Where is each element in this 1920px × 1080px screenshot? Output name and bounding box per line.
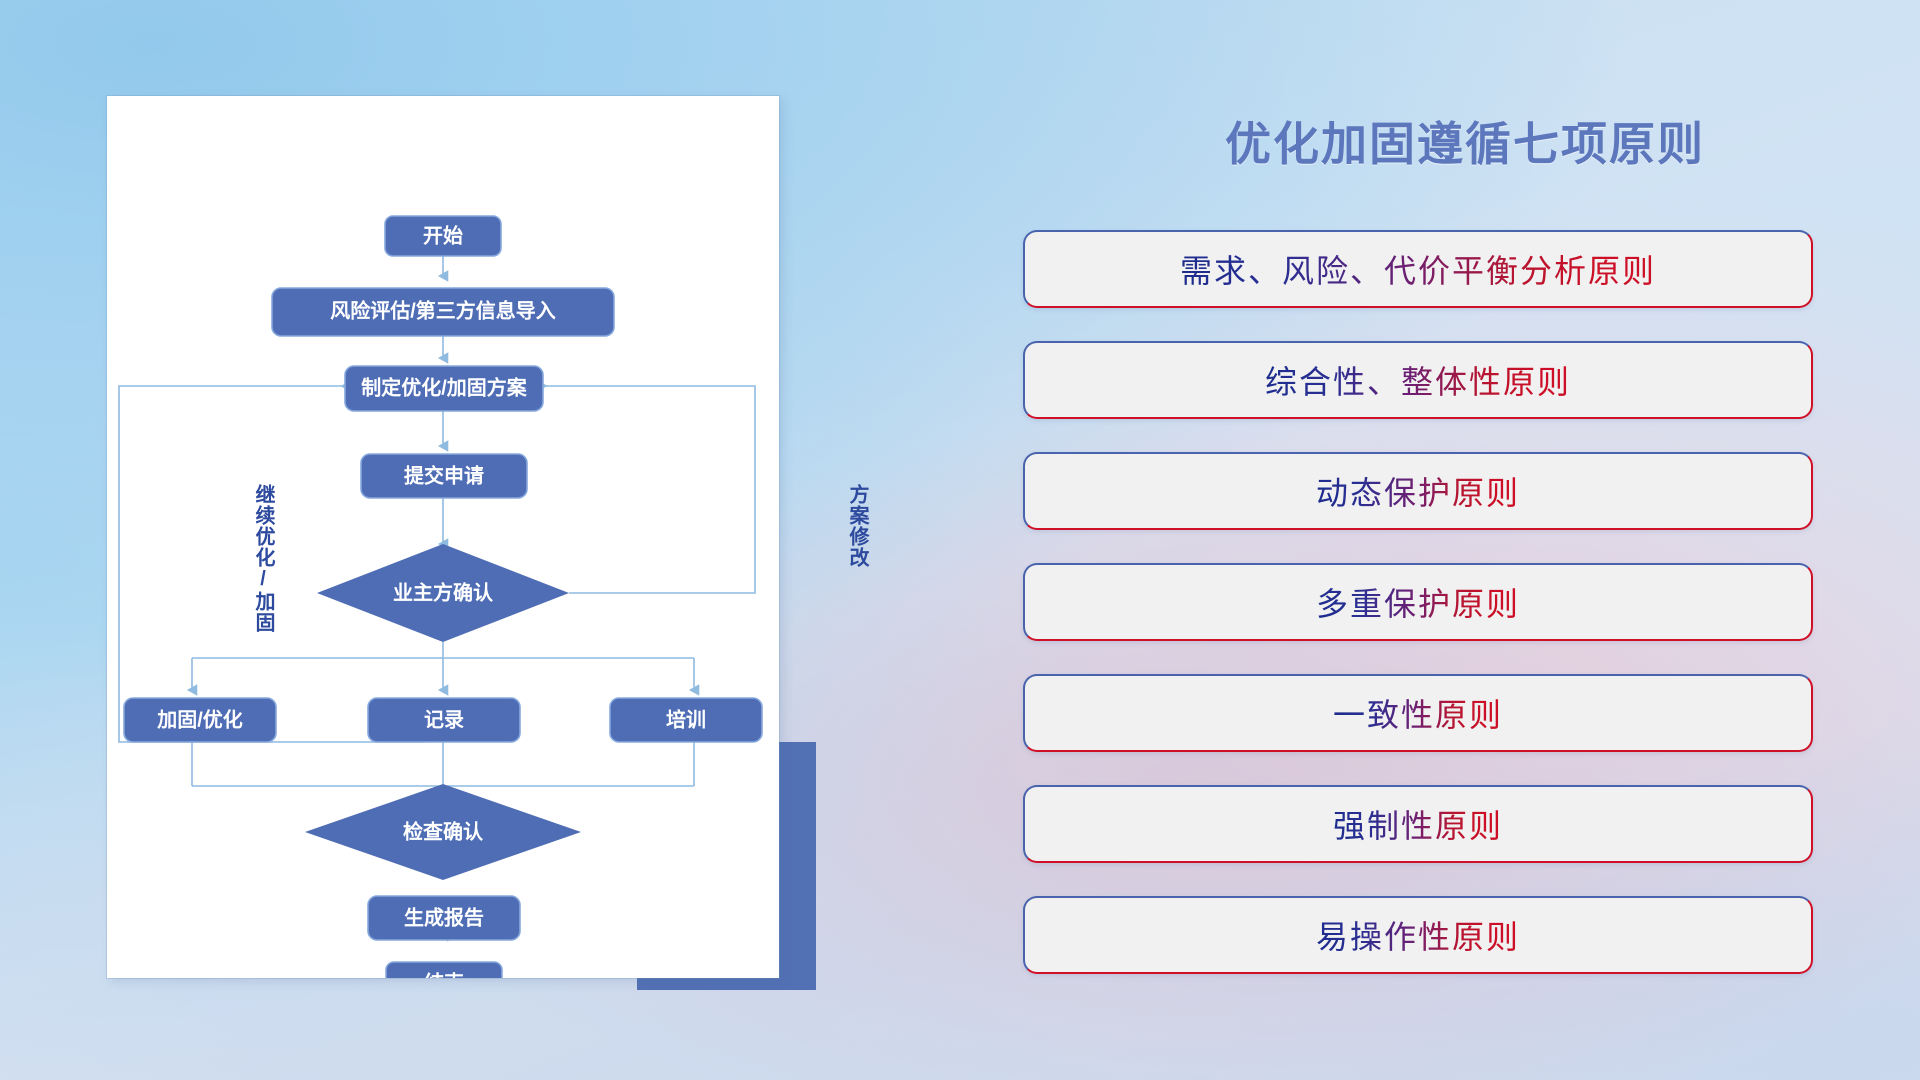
flow-node-owner-confirm[interactable]: 业主方确认 <box>317 544 569 642</box>
flow-node-label: 制定优化/加固方案 <box>361 375 528 399</box>
principle-card-label: 多重保护原则 <box>1316 579 1520 625</box>
flow-node-plan[interactable]: 制定优化/加固方案 <box>345 366 543 411</box>
flow-node-label: 记录 <box>424 708 464 731</box>
principle-card-list: 需求、风险、代价平衡分析原则 综合性、整体性原则 动态保护原则 多重保护原则 一… <box>1023 230 1813 1007</box>
principle-card-label: 强制性原则 <box>1333 801 1503 847</box>
right-panel: 优化加固遵循七项原则 需求、风险、代价平衡分析原则 综合性、整体性原则 动态保护… <box>1010 0 1920 1080</box>
flow-node-label: 培训 <box>666 707 706 731</box>
flowchart-svg: 开始 风险评估/第三方信息导入 制定优化/加固方案 提交申请 业主方确认 加固/… <box>107 96 779 978</box>
flow-node-label: 开始 <box>423 223 463 247</box>
flow-side-label-left: 继续优化/加固 <box>253 484 273 633</box>
page-title: 优化加固遵循七项原则 <box>1010 108 1920 174</box>
principle-card[interactable]: 综合性、整体性原则 <box>1023 341 1813 419</box>
flow-node-label: 提交申请 <box>404 463 484 487</box>
flow-node-training[interactable]: 培训 <box>610 698 762 742</box>
flow-node-check-confirm[interactable]: 检查确认 <box>305 784 581 880</box>
principle-card[interactable]: 易操作性原则 <box>1023 896 1813 974</box>
flow-node-record[interactable]: 记录 <box>368 698 520 742</box>
flowchart-panel: 开始 风险评估/第三方信息导入 制定优化/加固方案 提交申请 业主方确认 加固/… <box>107 96 779 978</box>
flow-node-report[interactable]: 生成报告 <box>368 896 520 940</box>
principle-card[interactable]: 强制性原则 <box>1023 785 1813 863</box>
principle-card[interactable]: 需求、风险、代价平衡分析原则 <box>1023 230 1813 308</box>
flow-node-label: 生成报告 <box>404 905 484 929</box>
principle-card-label: 易操作性原则 <box>1316 912 1520 958</box>
flow-node-reinforce[interactable]: 加固/优化 <box>124 698 276 742</box>
principle-card[interactable]: 一致性原则 <box>1023 674 1813 752</box>
flow-node-label: 结束 <box>424 970 465 978</box>
flow-node-label: 风险评估/第三方信息导入 <box>330 298 556 322</box>
flow-side-label-right: 方案修改 <box>847 484 867 568</box>
flow-node-label: 业主方确认 <box>393 580 494 604</box>
principle-card[interactable]: 动态保护原则 <box>1023 452 1813 530</box>
principle-card-label: 动态保护原则 <box>1316 468 1520 514</box>
principle-card-label: 综合性、整体性原则 <box>1265 357 1571 403</box>
principle-card-label: 需求、风险、代价平衡分析原则 <box>1180 246 1656 292</box>
principle-card[interactable]: 多重保护原则 <box>1023 563 1813 641</box>
flow-node-end[interactable]: 结束 <box>386 962 502 978</box>
flow-node-label: 检查确认 <box>403 819 484 843</box>
flow-node-label: 加固/优化 <box>156 707 243 731</box>
principle-card-label: 一致性原则 <box>1333 690 1503 736</box>
flow-node-risk-assessment[interactable]: 风险评估/第三方信息导入 <box>272 288 614 336</box>
flow-node-submit[interactable]: 提交申请 <box>361 454 527 498</box>
flow-node-start[interactable]: 开始 <box>385 216 501 256</box>
